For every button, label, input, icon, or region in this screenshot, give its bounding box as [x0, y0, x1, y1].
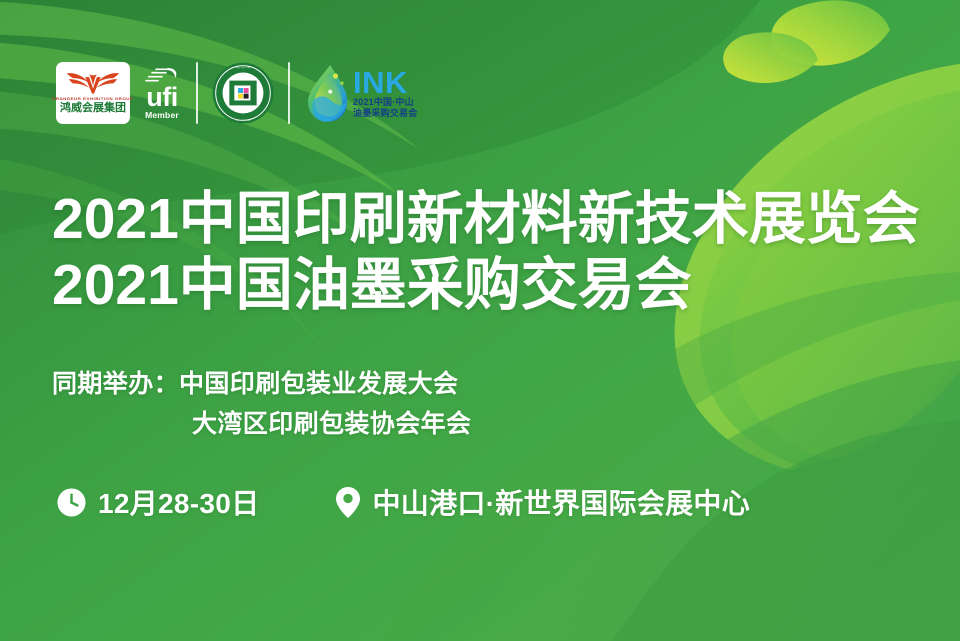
logo-association-seal: ············ ············	[212, 62, 274, 124]
main-title-line-2: 2021中国油墨采购交易会	[52, 252, 920, 318]
grandeur-english-name: GRANDEUR EXHIBITION GROUP	[52, 97, 134, 101]
ufi-member-label: Member	[145, 110, 179, 120]
event-banner: GRANDEUR EXHIBITION GROUP 鸿威会展集团 ufi Mem…	[0, 0, 960, 641]
circular-seal-cmyk-icon: ············ ············	[212, 62, 274, 124]
ink-subtitle-line2: 油墨采购交易会	[353, 108, 417, 119]
wings-w-logo-icon	[64, 66, 122, 96]
event-venue-text: 中山港口·新世界国际会展中心	[372, 482, 750, 522]
ink-droplet-icon	[304, 63, 350, 123]
event-meta-bar: 12月28-30日 中山港口·新世界国际会展中心	[56, 482, 750, 522]
logo-divider-2	[288, 62, 290, 124]
ink-wordmark: INK	[353, 68, 408, 97]
main-title-line-1: 2021中国印刷新材料新技术展览会	[52, 186, 920, 252]
svg-text:············: ············	[236, 66, 251, 70]
subtitle-block: 同期举办：中国印刷包装业发展大会 大湾区印刷包装协会年会	[52, 364, 471, 444]
logo-ufi-member: ufi Member	[142, 66, 182, 120]
event-date-text: 12月28-30日	[98, 482, 259, 522]
event-date: 12月28-30日	[56, 482, 259, 522]
grandeur-chinese-name: 鸿威会展集团	[60, 102, 126, 114]
svg-text:············: ············	[236, 119, 251, 123]
subtitle-line-1: 同期举办：中国印刷包装业发展大会	[52, 364, 471, 404]
subtitle-line-2: 大湾区印刷包装协会年会	[52, 404, 471, 444]
event-venue: 中山港口·新世界国际会展中心	[335, 482, 750, 522]
logo-bar: GRANDEUR EXHIBITION GROUP 鸿威会展集团 ufi Mem…	[56, 52, 417, 134]
ufi-wordmark: ufi	[146, 85, 178, 109]
clock-icon	[56, 487, 87, 518]
logo-divider-1	[196, 62, 198, 124]
logo-ink-expo: INK 2021中国·中山 油墨采购交易会	[304, 63, 417, 123]
logo-grandeur-exhibition-group: GRANDEUR EXHIBITION GROUP 鸿威会展集团 ufi Mem…	[56, 62, 182, 124]
location-pin-icon	[335, 486, 361, 519]
ink-subtitle-line1: 2021中国·中山	[353, 97, 414, 108]
main-title-block: 2021中国印刷新材料新技术展览会 2021中国油墨采购交易会	[52, 186, 920, 318]
